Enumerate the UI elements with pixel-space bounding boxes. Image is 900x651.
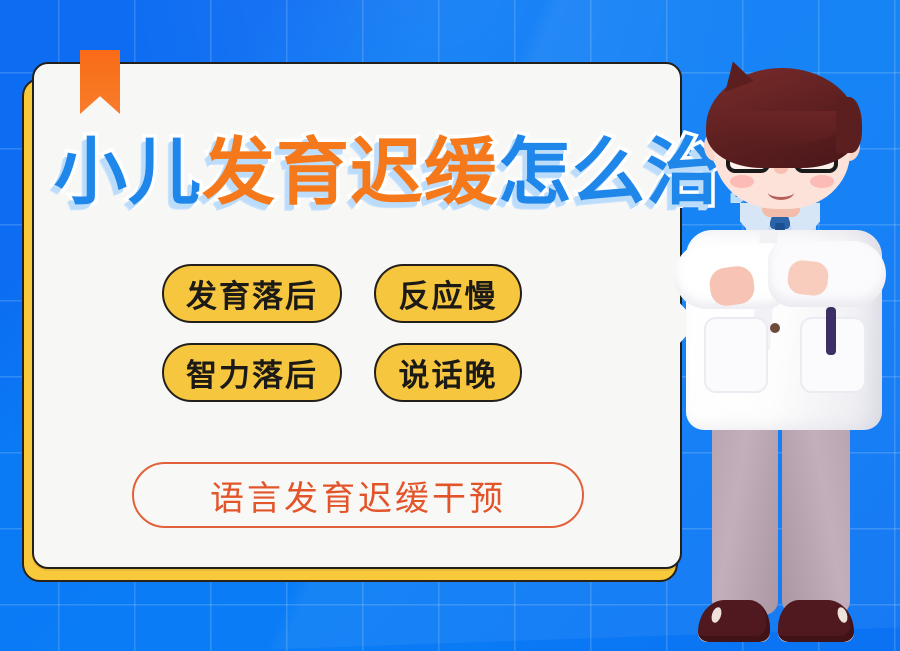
cta-button[interactable]: 语言发育迟缓干预 (132, 462, 584, 528)
card-inner: 小儿发育迟缓怎么治? 发育落后 反应慢 智力落后 说话晚 语言发育迟缓干预 (34, 64, 680, 567)
symptom-pill-4[interactable]: 说话晚 (374, 343, 522, 402)
symptom-pill-2[interactable]: 反应慢 (374, 264, 522, 323)
bookmark-ribbon-icon (80, 50, 120, 114)
symptom-pill-1[interactable]: 发育落后 (162, 264, 342, 323)
doctor-shoe-left (698, 600, 770, 642)
doctor-cheek-right (810, 175, 834, 188)
doctor-hair-side-right (836, 97, 862, 153)
title-part-1: 小儿 (54, 136, 202, 209)
pen-icon (826, 307, 836, 355)
doctor-mouth (768, 185, 794, 200)
page-title: 小儿发育迟缓怎么治? (54, 136, 674, 209)
title-part-2: 发育迟缓 (202, 136, 498, 209)
cartoon-doctor-illustration (660, 55, 900, 651)
symptom-pill-group: 发育落后 反应慢 智力落后 说话晚 (162, 264, 582, 402)
content-card: 小儿发育迟缓怎么治? 发育落后 反应慢 智力落后 说话晚 语言发育迟缓干预 (32, 62, 682, 569)
doctor-cheek-left (730, 175, 754, 188)
poster-stage: 小儿发育迟缓怎么治? 发育落后 反应慢 智力落后 说话晚 语言发育迟缓干预 (0, 0, 900, 651)
doctor-hand-right (786, 259, 829, 297)
doctor-coat-pocket-left (704, 317, 768, 393)
doctor-coat-button-2 (770, 323, 780, 333)
symptom-pill-3[interactable]: 智力落后 (162, 343, 342, 402)
